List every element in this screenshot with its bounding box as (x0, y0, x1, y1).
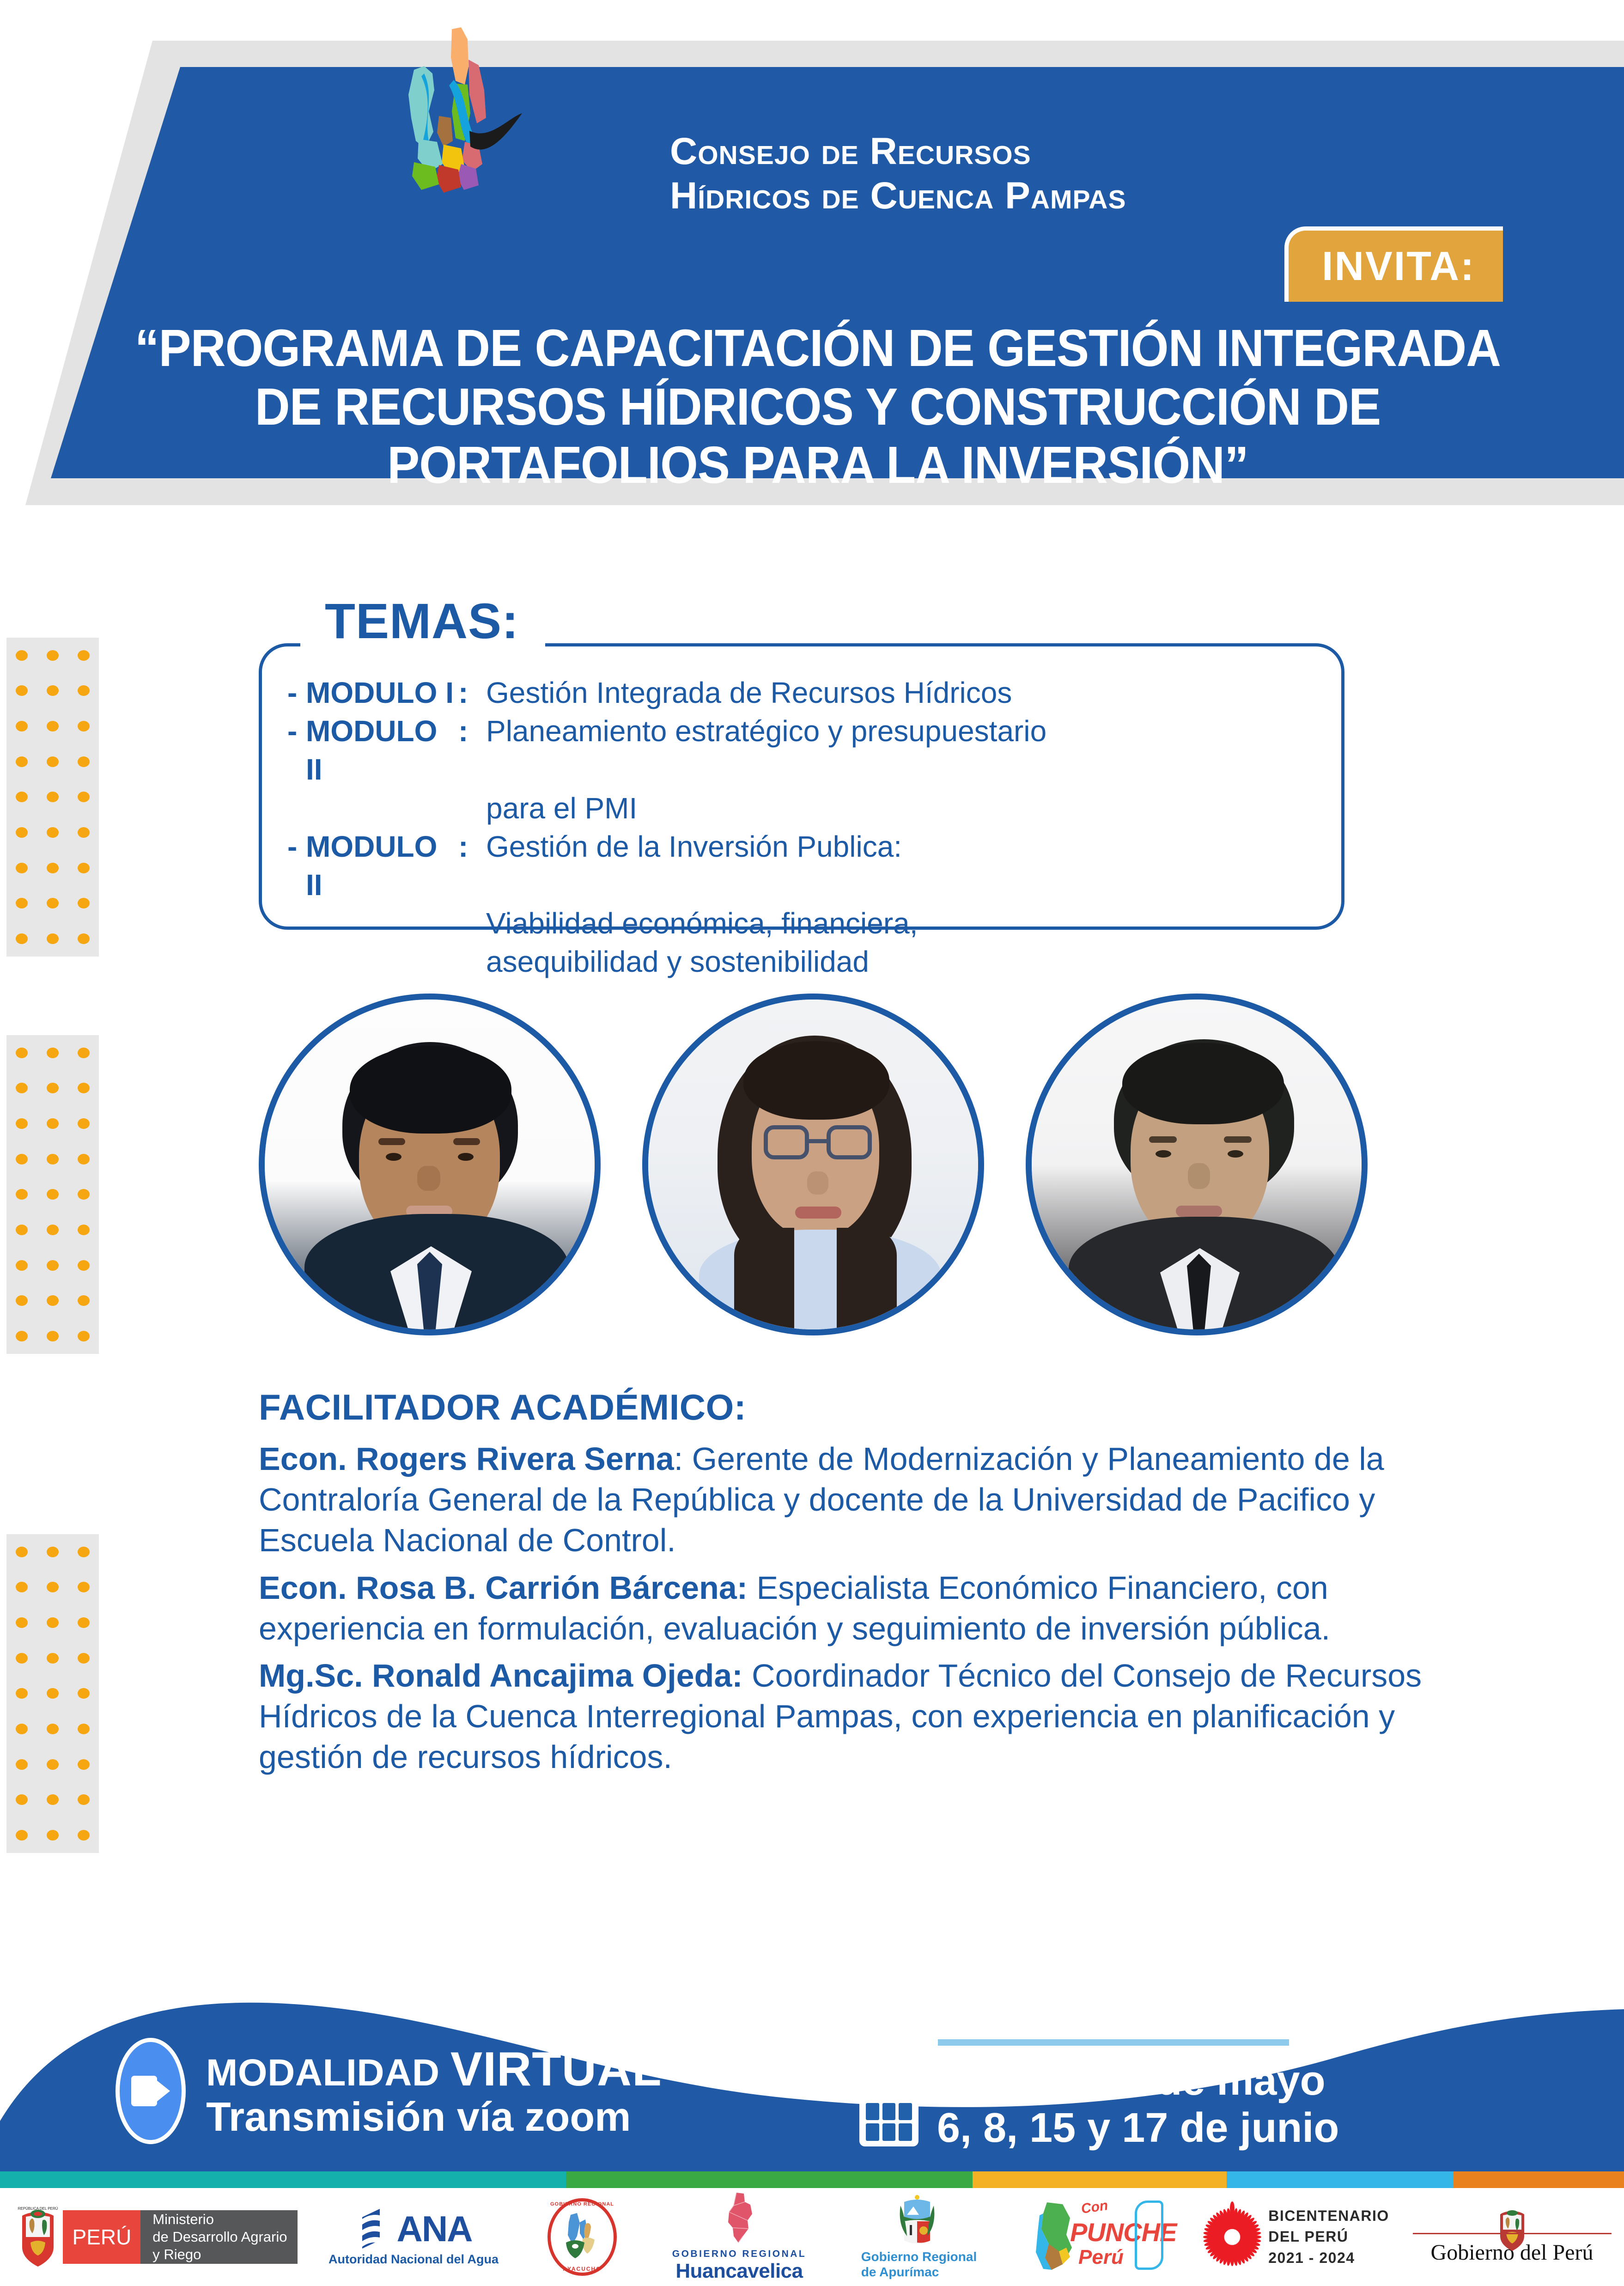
punche-line-3: Perú (1078, 2246, 1124, 2269)
huancavelica-top-text: GOBIERNO REGIONAL (672, 2249, 807, 2260)
decor-dot (16, 1830, 28, 1841)
stripe-segment (566, 2171, 973, 2188)
speaker-photo-1 (259, 994, 601, 1335)
decor-dot (78, 792, 90, 802)
minagri-line-3: y Riego (152, 2246, 287, 2263)
topic-module: MODULO I (306, 674, 458, 712)
peru-coat-of-arms-icon: REPÚBLICA DEL PERÚ (17, 2205, 59, 2269)
topic-description-cont: para el PMI (486, 789, 1322, 828)
decor-dot (47, 1582, 59, 1592)
topic-description: Gestión de la Inversión Publica: (486, 828, 1322, 866)
dot-pattern-decoration (6, 638, 99, 957)
bicentenario-line-2: DEL PERÚ (1268, 2226, 1389, 2247)
decor-dot (16, 863, 28, 873)
decor-dot (78, 1653, 90, 1664)
decor-dot (78, 756, 90, 767)
speaker-photos (259, 994, 1368, 1345)
decor-dot (16, 1295, 28, 1306)
decor-dot (78, 1830, 90, 1841)
minagri-name: Ministerio de Desarrollo Agrario y Riego (140, 2210, 297, 2264)
ana-subtitle: Autoridad Nacional del Agua (328, 2252, 499, 2267)
punche-arm-icon (1135, 2201, 1163, 2270)
logo-punche: Con PUNCHE Perú (1007, 2188, 1192, 2286)
decor-dot (47, 1331, 59, 1341)
decor-dot (47, 1048, 59, 1058)
dates-line-2: 6, 8, 15 y 17 de junio (937, 2105, 1339, 2152)
decor-dot (47, 792, 59, 802)
ana-wave-flag-icon (355, 2208, 392, 2250)
decor-dot (16, 1794, 28, 1805)
stripe-segment (1227, 2171, 1453, 2188)
topic-description-cont: Viabilidad económica, financiera, (486, 904, 1322, 943)
facilitator-heading-bold: FACILITADOR ACADÉMICO (259, 1387, 734, 1427)
dates-label: Fechas: (859, 1992, 1506, 2032)
decor-dot (47, 650, 59, 661)
decor-dot (78, 1724, 90, 1734)
ayacucho-bottom-text: AYACUCHO (547, 2266, 617, 2272)
facilitator-heading-colon: : (734, 1387, 746, 1427)
decor-dot (78, 898, 90, 908)
title-line-1: “PROGRAMA DE CAPACITACIÓN DE GESTIÓN INT… (134, 319, 1501, 378)
decor-dot (78, 1225, 90, 1235)
decor-dot (16, 1759, 28, 1770)
decor-dot (16, 933, 28, 944)
decor-dot (16, 1653, 28, 1664)
speaker-photo-3 (1026, 994, 1368, 1335)
decor-dot (16, 1154, 28, 1164)
minagri-line-1: Ministerio (152, 2211, 287, 2228)
decor-dot (78, 1547, 90, 1557)
topic-description: Planeamiento estratégico y presupuestari… (486, 712, 1322, 750)
topic-colon: : (458, 712, 486, 750)
decor-dot (78, 1331, 90, 1341)
logo-apurimac: Gobierno Regional de Apurímac (827, 2188, 1007, 2286)
facilitator-section: FACILITADOR ACADÉMICO: Econ. Rogers Rive… (259, 1386, 1469, 1784)
decor-dot (47, 721, 59, 732)
brand-line-2: Hídricos de Cuenca Pampas (670, 174, 1271, 218)
decor-dot (47, 1118, 59, 1129)
decor-dot (78, 933, 90, 944)
decor-dot (78, 1083, 90, 1093)
topic-module: MODULO II (306, 828, 458, 904)
decor-dot (47, 1260, 59, 1271)
header-banner: Consejo de Recursos Hídricos de Cuenca P… (0, 0, 1624, 545)
logo-ayacucho: GOBIERNO REGIONAL AYACUCHO (513, 2188, 651, 2286)
topic-item: -MODULO I:Gestión Integrada de Recursos … (287, 674, 1322, 712)
topic-dash: - (287, 712, 306, 750)
decor-dot (47, 1653, 59, 1664)
ana-wordmark: ANA (396, 2208, 472, 2250)
bicentenario-line-1: BICENTENARIO (1268, 2206, 1389, 2226)
huancavelica-name: Huancavelica (672, 2260, 807, 2283)
modality-emphasis: VIRTUAL (450, 2042, 662, 2096)
decor-dot (78, 650, 90, 661)
topic-colon: : (458, 674, 486, 712)
decor-dot (47, 1083, 59, 1093)
logo-huancavelica: GOBIERNO REGIONAL Huancavelica (651, 2188, 827, 2286)
decor-dot (78, 1794, 90, 1805)
logo-bicentenario: BICENTENARIO DEL PERÚ 2021 - 2024 (1192, 2188, 1400, 2286)
decor-dot (16, 1189, 28, 1200)
bicentenario-line-3: 2021 - 2024 (1268, 2248, 1389, 2268)
apurimac-name: Gobierno Regional de Apurímac (858, 2249, 977, 2279)
decor-dot (47, 1759, 59, 1770)
decor-dot (78, 1260, 90, 1271)
title-line-2: DE RECURSOS HÍDRICOS Y CONSTRUCCIÓN DE (134, 378, 1501, 436)
decor-dot (78, 721, 90, 732)
modality-title: MODALIDAD VIRTUAL (206, 2042, 662, 2097)
apurimac-line-2: de Apurímac (861, 2265, 977, 2280)
stripe-segment (973, 2171, 1227, 2188)
decor-dot (16, 898, 28, 908)
huancavelica-map-icon (718, 2192, 760, 2243)
decor-dot (47, 933, 59, 944)
decor-dot (47, 756, 59, 767)
decor-dot (16, 685, 28, 696)
decor-dot (47, 1688, 59, 1699)
decor-dot (47, 1547, 59, 1557)
topic-description-cont: asequibilidad y sostenibilidad (486, 943, 1322, 981)
facilitator-name: Econ. Rogers Rivera Serna (259, 1441, 674, 1477)
pampas-basin-map-icon (370, 25, 564, 210)
logo-minagri: REPÚBLICA DEL PERÚ PERÚ Ministerio de De… (0, 2188, 314, 2286)
decor-dot (47, 1225, 59, 1235)
decor-dot (16, 650, 28, 661)
topics-heading: TEMAS: (307, 596, 536, 646)
decor-dot (78, 1048, 90, 1058)
decor-dot (47, 1794, 59, 1805)
topics-list: -MODULO I:Gestión Integrada de Recursos … (287, 674, 1322, 981)
decor-dot (16, 756, 28, 767)
footer-logos: REPÚBLICA DEL PERÚ PERÚ Ministerio de De… (0, 2188, 1624, 2286)
facilitator-bios: Econ. Rogers Rivera Serna: Gerente de Mo… (259, 1439, 1469, 1778)
decor-dot (47, 1154, 59, 1164)
decor-dot (78, 827, 90, 838)
decor-dot (78, 1759, 90, 1770)
decor-dot (78, 1295, 90, 1306)
page-title: “PROGRAMA DE CAPACITACIÓN DE GESTIÓN INT… (134, 319, 1501, 494)
facilitator-bio: Econ. Rogers Rivera Serna: Gerente de Mo… (259, 1439, 1469, 1561)
facilitator-name: Econ. Rosa B. Carrión Bárcena: (259, 1570, 748, 1606)
decor-dot (47, 1617, 59, 1628)
dates-block: Fechas: 20, 27 y 30 de mayo 6, 8, 15 y 1… (859, 1992, 1506, 2152)
dot-pattern-decoration (6, 1035, 99, 1354)
facilitator-bio: Econ. Rosa B. Carrión Bárcena: Especiali… (259, 1567, 1469, 1649)
decor-dot (16, 1724, 28, 1734)
topic-dash: - (287, 674, 306, 712)
decor-dot (78, 1688, 90, 1699)
topic-module: MODULO II (306, 712, 458, 789)
topic-item: -MODULO II:Gestión de la Inversión Publi… (287, 828, 1322, 904)
decor-dot (78, 1582, 90, 1592)
punche-line-1: Con (1080, 2198, 1109, 2217)
dates-underline (938, 2039, 1289, 2046)
peru-coat-of-arms-icon (1496, 2209, 1529, 2252)
modality-block: MODALIDAD VIRTUAL Transmisión vía zoom (116, 2033, 785, 2149)
ayacucho-top-text: GOBIERNO REGIONAL (547, 2201, 617, 2207)
decor-dot (47, 863, 59, 873)
apurimac-crest-icon (895, 2195, 939, 2245)
modality-prefix: MODALIDAD (206, 2052, 450, 2094)
decor-dot (47, 898, 59, 908)
minagri-line-2: de Desarrollo Agrario (152, 2228, 287, 2246)
decor-dot (16, 1331, 28, 1341)
decor-dot (47, 1830, 59, 1841)
stripe-segment (0, 2171, 566, 2188)
color-stripe (0, 2171, 1624, 2188)
topic-dash: - (287, 828, 306, 866)
decor-dot (16, 1617, 28, 1628)
decor-dot (78, 1154, 90, 1164)
ayacucho-seal-icon (561, 2212, 603, 2261)
decor-dot (16, 1118, 28, 1129)
decor-dot (78, 1118, 90, 1129)
dates-values: 20, 27 y 30 de mayo 6, 8, 15 y 17 de jun… (937, 2058, 1339, 2152)
modality-subtitle: Transmisión vía zoom (206, 2093, 662, 2140)
decor-dot (16, 1547, 28, 1557)
bicentenario-text: BICENTENARIO DEL PERÚ 2021 - 2024 (1268, 2206, 1389, 2268)
brand-line-1: Consejo de Recursos (670, 129, 1271, 174)
decor-dot (78, 1189, 90, 1200)
topic-colon: : (458, 828, 486, 866)
topic-description: Gestión Integrada de Recursos Hídricos (486, 674, 1322, 712)
zoom-camera-icon (116, 2038, 186, 2144)
speaker-photo-2 (642, 994, 984, 1335)
decor-dot (78, 863, 90, 873)
title-line-3: PORTAFOLIOS PARA LA INVERSIÓN” (134, 436, 1501, 494)
minagri-peru-label: PERÚ (63, 2210, 140, 2264)
decor-dot (16, 1260, 28, 1271)
decor-dot (47, 1295, 59, 1306)
decor-dot (47, 827, 59, 838)
decor-dot (16, 1083, 28, 1093)
topic-item: -MODULO II:Planeamiento estratégico y pr… (287, 712, 1322, 789)
facilitator-name: Mg.Sc. Ronald Ancajima Ojeda: (259, 1658, 743, 1694)
decor-dot (16, 1582, 28, 1592)
facilitator-bio: Mg.Sc. Ronald Ancajima Ojeda: Coordinado… (259, 1655, 1469, 1778)
decor-dot (47, 1189, 59, 1200)
calendar-icon (859, 2063, 918, 2146)
stripe-segment (1453, 2171, 1624, 2188)
decor-dot (16, 721, 28, 732)
decor-dot (16, 1048, 28, 1058)
decor-dot (16, 1688, 28, 1699)
dot-pattern-decoration (6, 1534, 99, 1853)
logo-ana: ANA Autoridad Nacional del Agua (314, 2188, 513, 2286)
bicentenario-burst-icon (1203, 2200, 1262, 2274)
apurimac-line-1: Gobierno Regional (861, 2249, 977, 2264)
decor-dot (16, 827, 28, 838)
facilitator-heading: FACILITADOR ACADÉMICO: (259, 1386, 1469, 1428)
topics-section: TEMAS: -MODULO I:Gestión Integrada de Re… (259, 596, 1368, 943)
decor-dot (78, 1617, 90, 1628)
decor-dot (16, 1225, 28, 1235)
invita-badge: INVITA: (1284, 226, 1503, 302)
decor-dot (16, 792, 28, 802)
dates-line-1: 20, 27 y 30 de mayo (937, 2058, 1339, 2105)
decor-dot (78, 685, 90, 696)
decor-dot (47, 1724, 59, 1734)
brand-title: Consejo de Recursos Hídricos de Cuenca P… (670, 129, 1271, 218)
gobierno-divider (1413, 2233, 1612, 2234)
logo-gobierno-peru: Gobierno del Perú (1400, 2188, 1624, 2286)
decor-dot (47, 685, 59, 696)
